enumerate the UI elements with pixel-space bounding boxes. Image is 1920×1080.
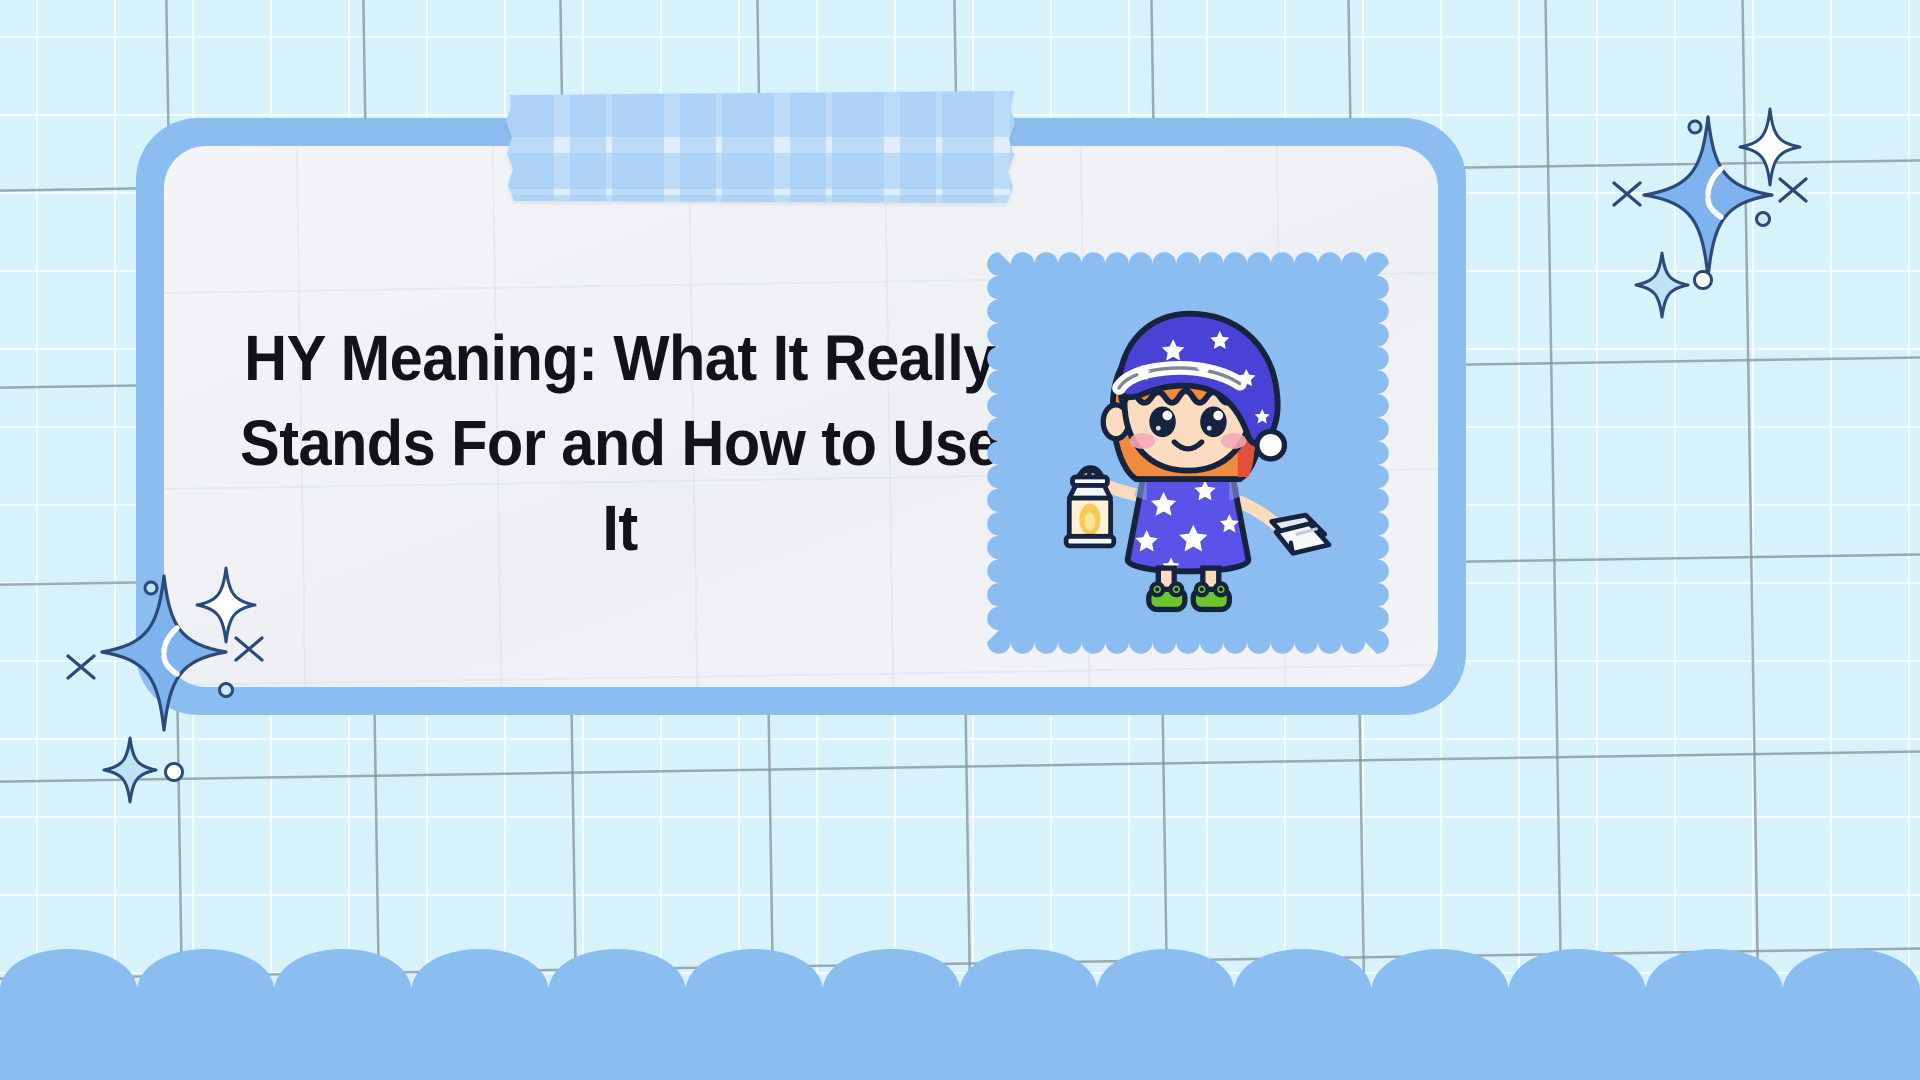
title-line-3: It [239,486,1002,571]
small-circle [1695,272,1712,289]
page-title: HY Meaning: What It Really Stands For an… [239,316,1002,571]
lantern-icon [1066,470,1114,546]
plus-mark [1614,183,1640,205]
title-line-1: HY Meaning: What It Really [239,316,1002,401]
small-circle [1757,213,1770,226]
large-four-point-star [1644,117,1772,277]
outline-four-point-star [1740,109,1800,185]
small-circle [1689,121,1701,133]
small-four-point-star [104,738,156,802]
plus-mark [68,656,94,678]
plus-mark [1780,179,1806,201]
banner-canvas: HY Meaning: What It Really Stands For an… [0,0,1920,1080]
washi-tape [502,85,1022,209]
illustration-tile [999,264,1377,642]
main-card-inner: HY Meaning: What It Really Stands For an… [164,146,1438,687]
small-four-point-star [1636,253,1688,317]
sparkle-cluster-top-right [1590,95,1910,365]
title-line-2: Stands For and How to Use [239,401,1002,486]
bottom-scallop-band [0,930,1920,1080]
small-circle [166,764,183,781]
